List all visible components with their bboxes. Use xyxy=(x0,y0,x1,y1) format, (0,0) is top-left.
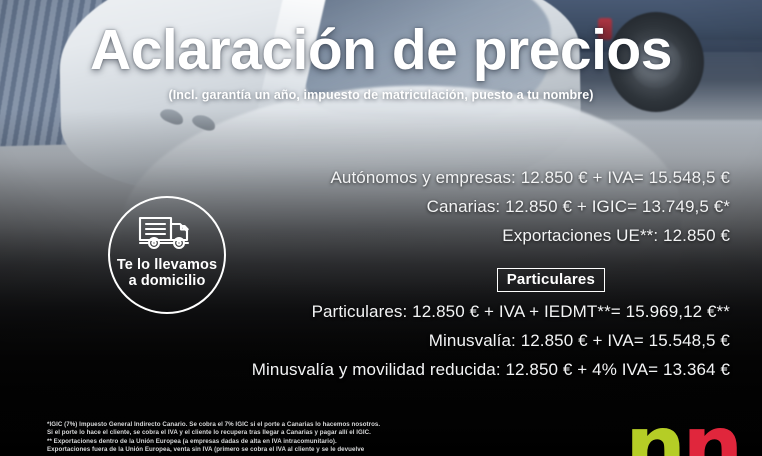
page-subtitle: (Incl. garantía un año, impuesto de matr… xyxy=(0,88,762,102)
logo-letter-green: n xyxy=(625,397,682,456)
price-line-particulares: Particulares: 12.850 € + IVA + IEDMT**= … xyxy=(30,297,730,326)
footnote-line: ** Exportaciones dentro de la Unión Euro… xyxy=(47,438,380,446)
footnotes: *IGIC (7%) Impuesto General Indirecto Ca… xyxy=(47,421,380,455)
price-line-movilidad-reducida: Minusvalía y movilidad reducida: 12.850 … xyxy=(30,355,730,384)
footnote-line: Si el porte lo hace el cliente, se cobra… xyxy=(47,429,380,437)
section-label: Particulares xyxy=(497,268,605,292)
logo-letter-red: n xyxy=(682,397,739,456)
price-line-minusvalia: Minusvalía: 12.850 € + IVA= 15.548,5 € xyxy=(30,326,730,355)
price-line-exportaciones: Exportaciones UE**: 12.850 € xyxy=(30,221,730,250)
page-title: Aclaración de precios xyxy=(0,22,762,79)
poster-header: Aclaración de precios (Incl. garantía un… xyxy=(0,22,762,102)
footnote-line: Exportaciones fuera de la Unión Europea,… xyxy=(47,446,380,454)
price-list: Autónomos y empresas: 12.850 € + IVA= 15… xyxy=(30,163,730,384)
brand-logo: nn xyxy=(625,404,739,456)
price-line-canarias: Canarias: 12.850 € + IGIC= 13.749,5 €* xyxy=(30,192,730,221)
price-clarification-poster: Aclaración de precios (Incl. garantía un… xyxy=(0,0,762,456)
footnote-line: *IGIC (7%) Impuesto General Indirecto Ca… xyxy=(47,421,380,429)
price-line-autonomos: Autónomos y empresas: 12.850 € + IVA= 15… xyxy=(30,163,730,192)
section-header-particulares: Particulares xyxy=(30,268,730,292)
